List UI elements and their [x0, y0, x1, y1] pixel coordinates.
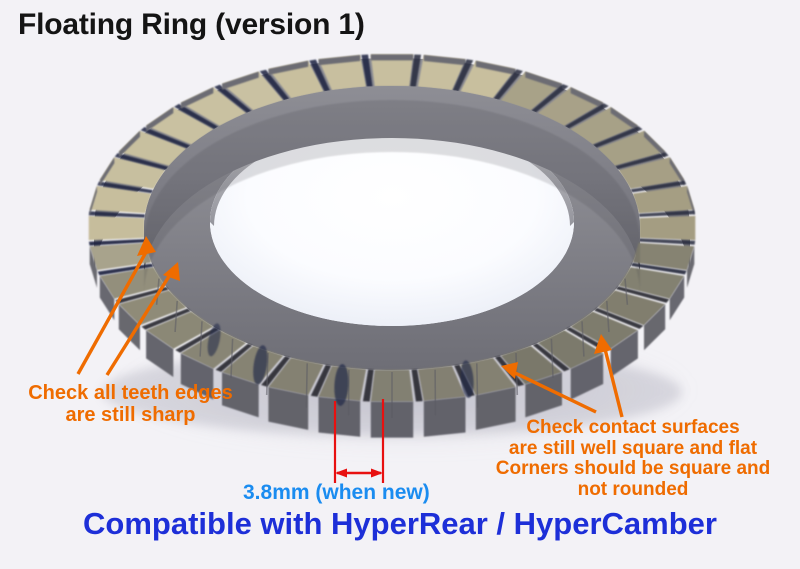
arrow-teeth-1-head	[137, 236, 156, 256]
arrow-contact-1-shaft	[511, 371, 596, 412]
page-title: Floating Ring (version 1)	[18, 8, 365, 42]
annotation-check-teeth-line1: Check all teeth edges	[8, 383, 253, 405]
arrow-contact-1-head	[501, 362, 518, 379]
annotation-check-teeth-line2: are still sharp	[8, 405, 253, 427]
arrow-teeth-2-head	[163, 262, 180, 281]
annotation-check-contact: Check contact surfaces are still well sq…	[470, 418, 796, 500]
arrow-teeth-2-shaft	[107, 270, 173, 375]
annotation-check-teeth: Check all teeth edges are still sharp	[8, 383, 253, 426]
dimension-label: 3.8mm (when new)	[243, 481, 463, 505]
arrow-contact-2-shaft	[604, 345, 622, 417]
annotation-check-contact-line3: Corners should be square and	[470, 459, 796, 480]
annotation-check-contact-line2: are still well square and flat	[470, 439, 796, 460]
annotation-check-contact-line4: not rounded	[470, 480, 796, 501]
compatibility-banner: Compatible with HyperRear / HyperCamber	[0, 506, 800, 542]
screenshot-stage: Floating Ring (version 1) Check all teet…	[0, 0, 800, 569]
arrow-contact-2-head	[594, 334, 612, 354]
annotation-check-contact-line1: Check contact surfaces	[470, 418, 796, 439]
arrow-teeth-1-shaft	[78, 245, 150, 374]
